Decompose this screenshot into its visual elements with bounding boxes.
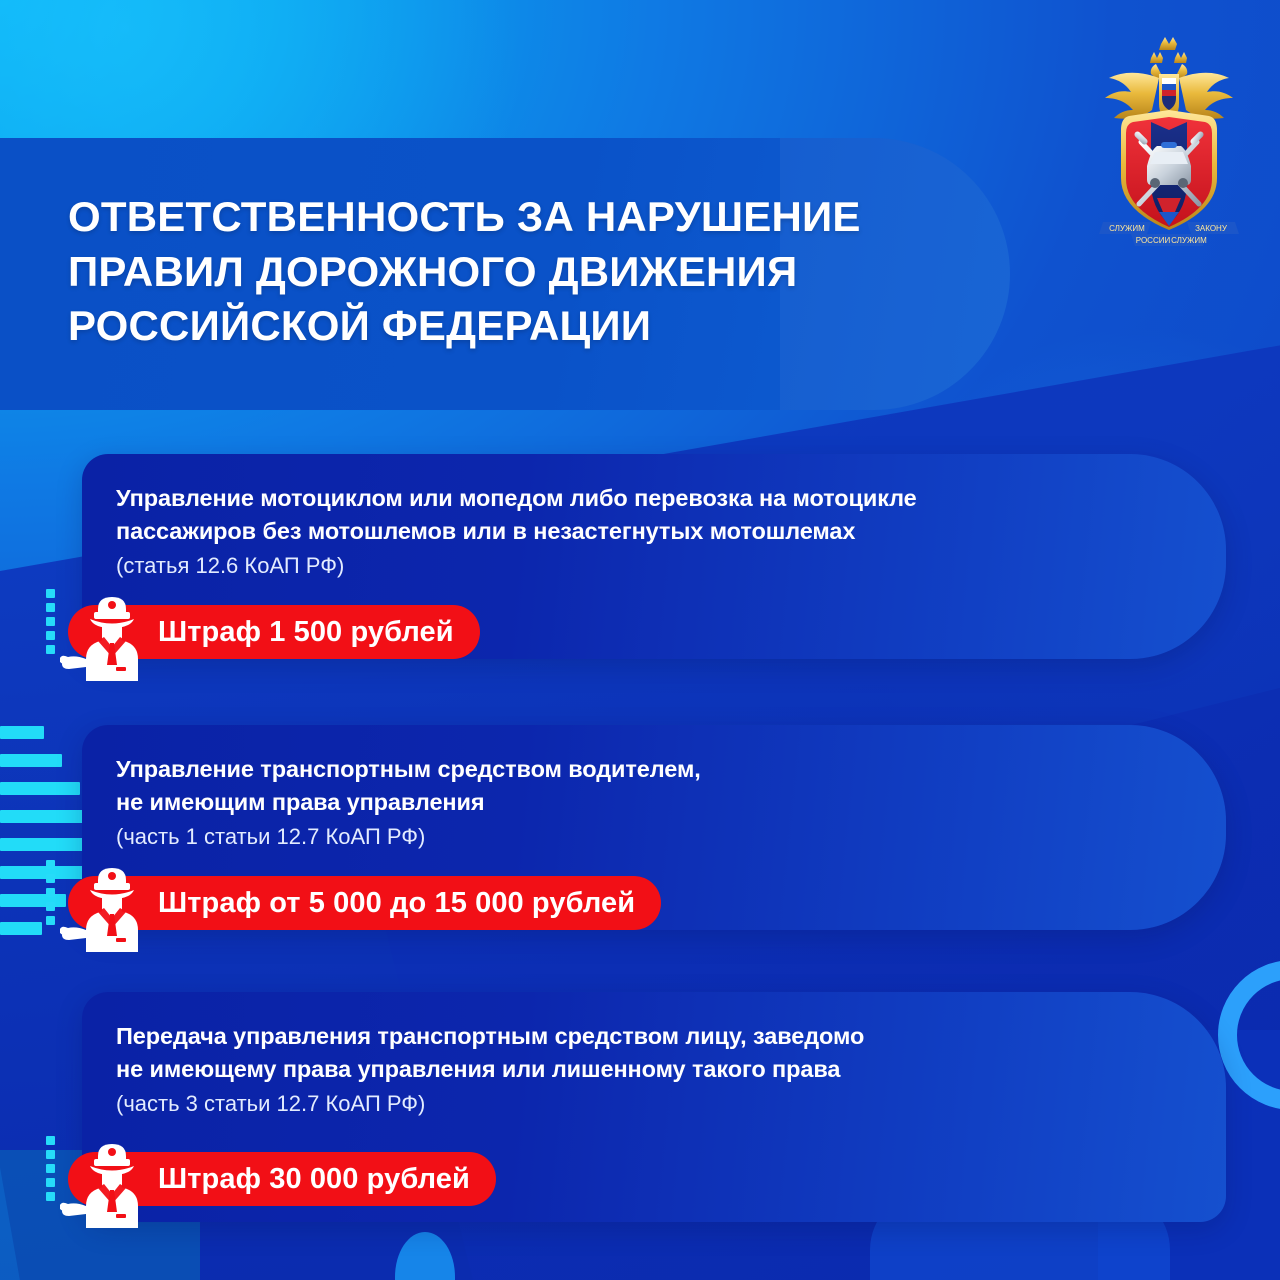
violation-line: Передача управления транспортным средств… bbox=[116, 1020, 1146, 1053]
page-title: ОТВЕТСТВЕННОСТЬ ЗА НАРУШЕНИЕ ПРАВИЛ ДОРО… bbox=[68, 190, 1028, 354]
motto-center-bottom: СЛУЖИМ bbox=[1171, 236, 1207, 245]
violation-line: не имеющим права управления bbox=[116, 786, 1146, 819]
motto-left: СЛУЖИМ bbox=[1109, 224, 1145, 233]
fine-amount-label: Штраф 30 000 рублей bbox=[158, 1163, 470, 1196]
motto-right: ЗАКОНУ bbox=[1195, 224, 1228, 233]
infographic-poster: ОТВЕТСТВЕННОСТЬ ЗА НАРУШЕНИЕ ПРАВИЛ ДОРО… bbox=[0, 0, 1280, 1280]
violation-card-text: Управление мотоциклом или мопедом либо п… bbox=[116, 482, 1146, 580]
cyan-dot-line bbox=[46, 589, 55, 675]
article-reference: (статья 12.6 КоАП РФ) bbox=[116, 551, 1146, 581]
fine-badge: Штраф 30 000 рублей bbox=[68, 1152, 496, 1206]
cyan-dot-line bbox=[46, 860, 55, 946]
violation-line: Управление транспортным средством водите… bbox=[116, 753, 1146, 786]
page-title-line-2: ПРАВИЛ ДОРОЖНОГО ДВИЖЕНИЯ bbox=[68, 245, 1028, 300]
fine-badge: Штраф от 5 000 до 15 000 рублей bbox=[68, 876, 661, 930]
article-reference: (часть 3 статьи 12.7 КоАП РФ) bbox=[116, 1089, 1146, 1119]
fine-amount-label: Штраф 1 500 рублей bbox=[158, 616, 454, 649]
violation-line: Управление мотоциклом или мопедом либо п… bbox=[116, 482, 1146, 515]
fine-badge: Штраф 1 500 рублей bbox=[68, 605, 480, 659]
violation-line: пассажиров без мотошлемов или в незастег… bbox=[116, 515, 1146, 548]
motto-center-top: РОССИИ bbox=[1136, 236, 1171, 245]
mvd-emblem-icon: СЛУЖИМ ЗАКОНУ РОССИИ СЛУЖИМ bbox=[1083, 22, 1255, 247]
violation-card-text: Передача управления транспортным средств… bbox=[116, 1020, 1146, 1118]
ring-circle-icon bbox=[1218, 960, 1280, 1110]
page-title-line-1: ОТВЕТСТВЕННОСТЬ ЗА НАРУШЕНИЕ bbox=[68, 190, 1028, 245]
violation-description: Передача управления транспортным средств… bbox=[116, 1020, 1146, 1086]
fine-amount-label: Штраф от 5 000 до 15 000 рублей bbox=[158, 887, 635, 920]
violation-line: не имеющему права управления или лишенно… bbox=[116, 1053, 1146, 1086]
page-title-line-3: РОССИЙСКОЙ ФЕДЕРАЦИИ bbox=[68, 299, 1028, 354]
cyan-dot-line bbox=[46, 1136, 55, 1222]
blob-shape bbox=[395, 1232, 455, 1280]
violation-description: Управление транспортным средством водите… bbox=[116, 753, 1146, 819]
article-reference: (часть 1 статьи 12.7 КоАП РФ) bbox=[116, 822, 1146, 852]
violation-card-text: Управление транспортным средством водите… bbox=[116, 753, 1146, 851]
violation-description: Управление мотоциклом или мопедом либо п… bbox=[116, 482, 1146, 548]
